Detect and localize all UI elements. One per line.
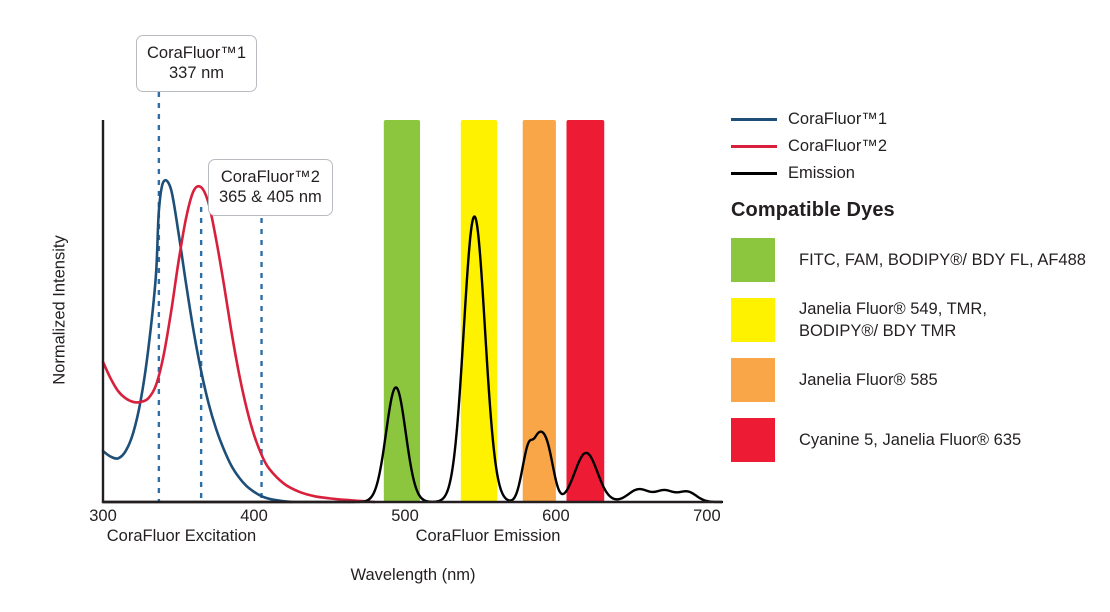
dye-item-green: FITC, FAM, BODIPY®/ BDY FL, AF488 <box>731 236 1103 284</box>
legend-label-corafluor1: CoraFluor™1 <box>788 110 887 129</box>
x-axis-sublabel-emission: CoraFluor Emission <box>416 527 561 546</box>
dye-color-swatch-red <box>731 418 775 462</box>
compatible-dyes-heading: Compatible Dyes <box>731 199 895 222</box>
dye-label-green: FITC, FAM, BODIPY®/ BDY FL, AF488 <box>799 249 1086 271</box>
dye-label-orange: Janelia Fluor® 585 <box>799 369 938 391</box>
callout-corafluor1-title: CoraFluor™1 <box>147 43 246 63</box>
dye-label-yellow-line1: Janelia Fluor® 549, TMR, <box>799 298 987 320</box>
x-tick-600: 600 <box>542 507 570 526</box>
x-tick-500: 500 <box>391 507 419 526</box>
dye-color-swatch-yellow <box>731 298 775 342</box>
callout-corafluor2: CoraFluor™2 365 & 405 nm <box>208 159 333 216</box>
emission-band-0 <box>384 120 420 502</box>
emission-band-3 <box>566 120 604 502</box>
dye-item-yellow: Janelia Fluor® 549, TMR, BODIPY®/ BDY TM… <box>731 296 1103 344</box>
y-axis-title: Normalized Intensity <box>51 235 70 384</box>
dye-label-yellow-line2: BODIPY®/ BDY TMR <box>799 320 987 342</box>
callout-corafluor1-value: 337 nm <box>147 63 246 83</box>
callout-corafluor2-value: 365 & 405 nm <box>219 187 322 207</box>
dye-label-red-line1: Cyanine 5, Janelia Fluor® 635 <box>799 429 1021 451</box>
dye-label-yellow: Janelia Fluor® 549, TMR, BODIPY®/ BDY TM… <box>799 298 987 343</box>
emission-band-1 <box>461 120 497 502</box>
dye-color-swatch-green <box>731 238 775 282</box>
callout-corafluor2-title: CoraFluor™2 <box>219 167 322 187</box>
legend-item-corafluor1: CoraFluor™1 <box>731 106 1101 133</box>
series-legend: CoraFluor™1 CoraFluor™2 Emission <box>731 106 1101 187</box>
legend-line-swatch-corafluor2 <box>731 145 777 148</box>
plot-area: CoraFluor™1 337 nm CoraFluor™2 365 & 405… <box>0 0 740 612</box>
dye-label-orange-line1: Janelia Fluor® 585 <box>799 369 938 391</box>
legend-item-corafluor2: CoraFluor™2 <box>731 133 1101 160</box>
x-tick-700: 700 <box>693 507 721 526</box>
dye-item-orange: Janelia Fluor® 585 <box>731 356 1103 404</box>
x-axis-sublabel-excitation: CoraFluor Excitation <box>107 527 256 546</box>
legend-line-swatch-corafluor1 <box>731 118 777 121</box>
legend-label-corafluor2: CoraFluor™2 <box>788 137 887 156</box>
dye-label-red: Cyanine 5, Janelia Fluor® 635 <box>799 429 1021 451</box>
legend-label-emission: Emission <box>788 164 855 183</box>
compatible-dyes-list: FITC, FAM, BODIPY®/ BDY FL, AF488 Janeli… <box>731 236 1103 476</box>
x-tick-400: 400 <box>240 507 268 526</box>
callout-corafluor1: CoraFluor™1 337 nm <box>136 35 257 92</box>
legend-line-swatch-emission <box>731 172 777 175</box>
dye-color-swatch-orange <box>731 358 775 402</box>
excitation-curve-2 <box>103 186 375 502</box>
spectra-figure: CoraFluor™1 337 nm CoraFluor™2 365 & 405… <box>0 0 1110 612</box>
dye-label-green-line1: FITC, FAM, BODIPY®/ BDY FL, AF488 <box>799 249 1086 271</box>
excitation-curve-1 <box>103 180 292 502</box>
x-axis-title: Wavelength (nm) <box>350 566 475 585</box>
legend-item-emission: Emission <box>731 160 1101 187</box>
x-tick-300: 300 <box>89 507 117 526</box>
dye-item-red: Cyanine 5, Janelia Fluor® 635 <box>731 416 1103 464</box>
